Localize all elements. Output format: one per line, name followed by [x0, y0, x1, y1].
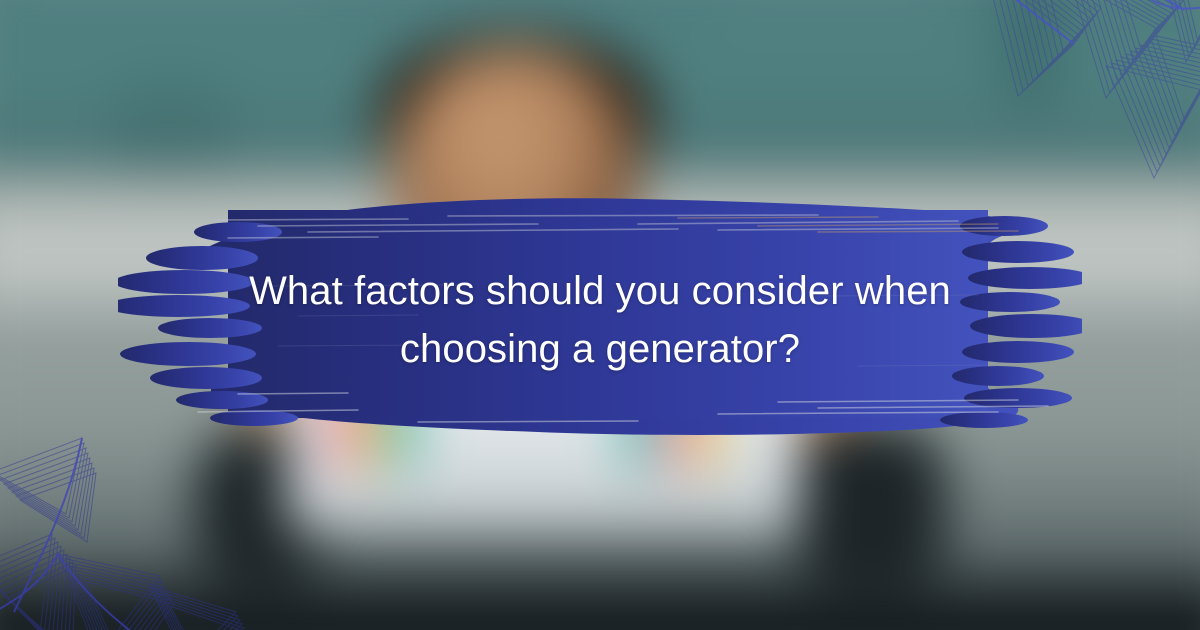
- chalkboard-shadow: [1000, 0, 1060, 110]
- chalkboard-streak: [20, 0, 320, 4]
- headline-line-2: choosing a generator?: [190, 320, 1010, 378]
- chalkboard-shadow: [110, 80, 230, 190]
- desk-shadow: [0, 550, 1200, 630]
- chalkboard-streak: [720, 8, 940, 22]
- page-title: What factors should you consider when ch…: [190, 262, 1010, 378]
- question-card: What factors should you consider when ch…: [0, 0, 1200, 630]
- headline-line-1: What factors should you consider when: [190, 262, 1010, 320]
